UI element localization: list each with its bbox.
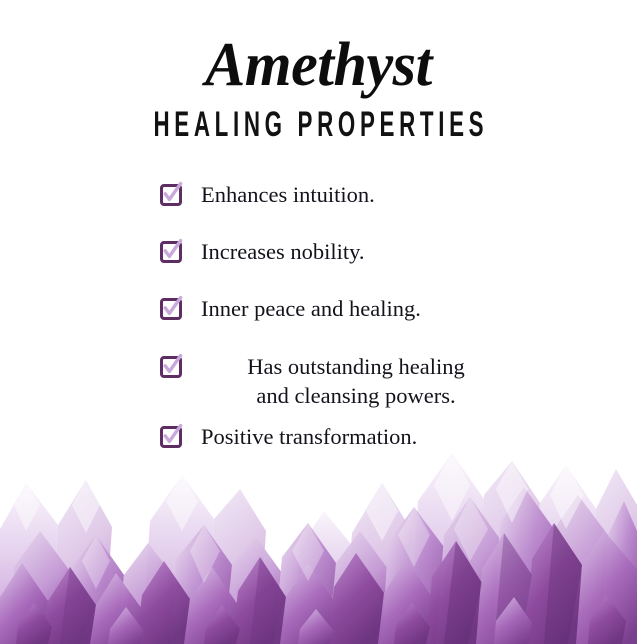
poster-header: Amethyst HEALING PROPERTIES <box>0 0 637 136</box>
page-subtitle: HEALING PROPERTIES <box>89 96 548 142</box>
checked-checkbox-icon[interactable] <box>160 241 182 263</box>
amethyst-crystal-cluster-photo <box>0 439 637 644</box>
list-item[interactable]: Positive transformation. <box>0 423 637 452</box>
list-item[interactable]: Enhances intuition. <box>0 181 637 210</box>
list-item-label: Enhances intuition. <box>201 181 627 210</box>
checked-checkbox-icon[interactable] <box>160 356 182 378</box>
list-item[interactable]: Inner peace and healing. <box>0 295 637 324</box>
list-item-label: Inner peace and healing. <box>201 295 627 324</box>
list-item-label: Has outstanding healing and cleansing po… <box>201 353 511 411</box>
amethyst-healing-properties-poster: Amethyst HEALING PROPERTIES Enhances int… <box>0 0 637 644</box>
checked-checkbox-icon[interactable] <box>160 298 182 320</box>
checked-checkbox-icon[interactable] <box>160 184 182 206</box>
page-title: Amethyst <box>10 0 628 96</box>
list-item[interactable]: Increases nobility. <box>0 238 637 267</box>
list-item-label: Increases nobility. <box>201 238 627 267</box>
list-item-label: Positive transformation. <box>201 423 627 452</box>
list-item[interactable]: Has outstanding healing and cleansing po… <box>0 353 637 411</box>
checked-checkbox-icon[interactable] <box>160 426 182 448</box>
healing-properties-list: Enhances intuition. Increases nobility. … <box>0 181 637 452</box>
